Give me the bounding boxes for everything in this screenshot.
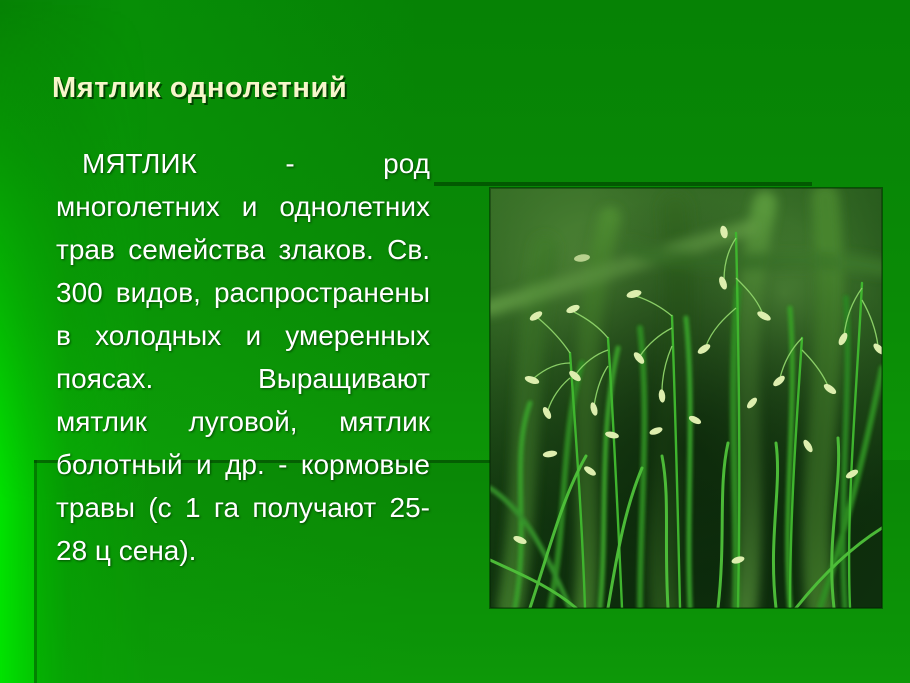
slide-body-text: МЯТЛИК - род многолетних и однолетних тр… xyxy=(56,142,430,572)
body-paragraph-text: МЯТЛИК - род многолетних и однолетних тр… xyxy=(56,148,430,566)
background-dark-panel-left-edge xyxy=(34,460,37,683)
decorative-horizontal-rule xyxy=(434,182,812,186)
grass-photo-illustration xyxy=(490,188,882,608)
body-paragraph: МЯТЛИК - род многолетних и однолетних тр… xyxy=(56,142,430,572)
slide-title: Мятлик однолетний xyxy=(52,72,872,105)
presentation-slide: Мятлик однолетний МЯТЛИК - род многолетн… xyxy=(0,0,910,683)
grass-photo xyxy=(490,188,882,608)
